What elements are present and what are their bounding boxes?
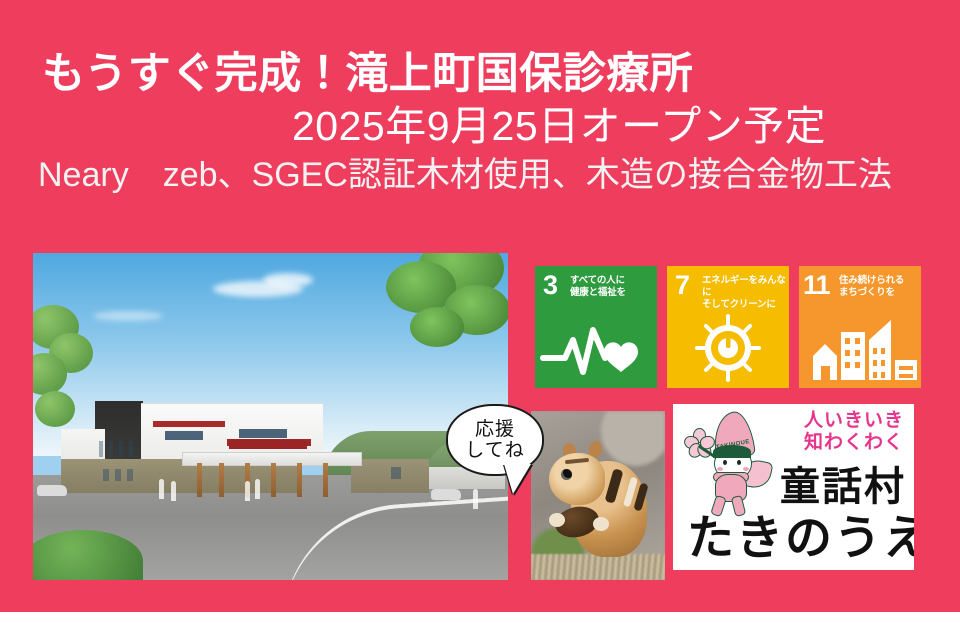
headline-line-2: 2025年9月25日オープン予定 — [0, 100, 960, 152]
sdg-badge-number: 3 — [543, 272, 557, 299]
speech-bubble-tail — [504, 464, 531, 494]
speech-bubble-line-1: 応援 — [475, 419, 515, 440]
figure-silhouette — [245, 481, 250, 501]
tree-right — [358, 253, 508, 387]
sdg-badge-number: 11 — [803, 272, 830, 299]
window — [165, 431, 203, 440]
tree-left — [33, 295, 123, 485]
sdg-badge-title: 住み続けられる まちづくりを — [839, 275, 921, 299]
gravel-foreground — [531, 554, 665, 580]
window — [127, 469, 133, 481]
roof-red-band — [153, 421, 225, 427]
clinic-rendering-photo — [33, 253, 508, 580]
wood-column — [271, 463, 276, 497]
sdg-badge-11: 11 住み続けられる まちづくりを — [799, 266, 921, 388]
wood-column — [219, 463, 224, 497]
building-right-olive — [351, 459, 429, 493]
chipmunk-paw — [549, 513, 565, 527]
chipmunk-eye — [561, 469, 572, 480]
cheer-speech-bubble: 応援 してね — [446, 404, 544, 476]
mascot-hair — [713, 445, 751, 458]
sdg-badge-title: エネルギーをみんなに そしてクリーンに — [702, 275, 788, 311]
sdg-badge-row: 3 すべての人に 健康と福祉を 7 エネルギーをみんなに そしてクリーンに — [535, 266, 921, 388]
window — [239, 429, 287, 438]
sdg-badge-number: 7 — [675, 272, 689, 299]
speech-bubble-line-2: してね — [465, 440, 524, 461]
headline-line-3: Neary zeb、SGEC認証木材使用、木造の接合金物工法 — [0, 152, 960, 198]
wood-column — [323, 463, 328, 497]
chipmunk-paw — [593, 517, 609, 531]
headline-block: もうすぐ完成！滝上町国保診療所 2025年9月25日オープン予定 Neary z… — [0, 48, 960, 198]
figure-silhouette — [159, 479, 164, 499]
headline-line-1: もうすぐ完成！滝上町国保診療所 — [0, 48, 960, 100]
catchphrase-line-1: 人いきいき — [804, 410, 904, 432]
mascot-eye — [737, 460, 741, 465]
sdg-badge-7: 7 エネルギーをみんなに そしてクリーンに — [667, 266, 789, 388]
sun-power-icon — [667, 314, 789, 382]
poster-canvas: もうすぐ完成！滝上町国保診療所 2025年9月25日オープン予定 Neary z… — [0, 0, 960, 640]
town-logo-kana: たきのうえ — [687, 499, 914, 568]
parked-car — [431, 489, 461, 500]
wood-column — [297, 463, 302, 497]
heartbeat-icon — [535, 314, 657, 382]
parked-car — [37, 485, 67, 496]
chipmunk-photo — [531, 411, 665, 580]
town-logo-panel: TAKINOUE 人いきいき 知わくわく 童話村 たきのうえ — [673, 404, 914, 570]
catchphrase-line-2: 知わくわく — [804, 432, 904, 454]
cloud — [263, 273, 313, 287]
window — [391, 467, 401, 479]
entrance-canopy-red — [229, 441, 307, 449]
wood-column — [197, 463, 202, 497]
bottom-white-strip — [0, 612, 960, 640]
town-logo-catchphrase: 人いきいき 知わくわく — [804, 410, 904, 455]
mascot-eye — [723, 460, 727, 465]
figure-silhouette — [255, 479, 260, 499]
figure-silhouette — [473, 489, 478, 509]
mascot-cheek — [717, 467, 723, 471]
mascot-cheek — [743, 467, 749, 471]
window — [129, 441, 133, 457]
sdg-badge-title: すべての人に 健康と福祉を — [570, 275, 656, 299]
sdg-badge-3: 3 すべての人に 健康と福祉を — [535, 266, 657, 388]
figure-silhouette — [171, 481, 176, 501]
city-buildings-icon — [799, 314, 921, 382]
